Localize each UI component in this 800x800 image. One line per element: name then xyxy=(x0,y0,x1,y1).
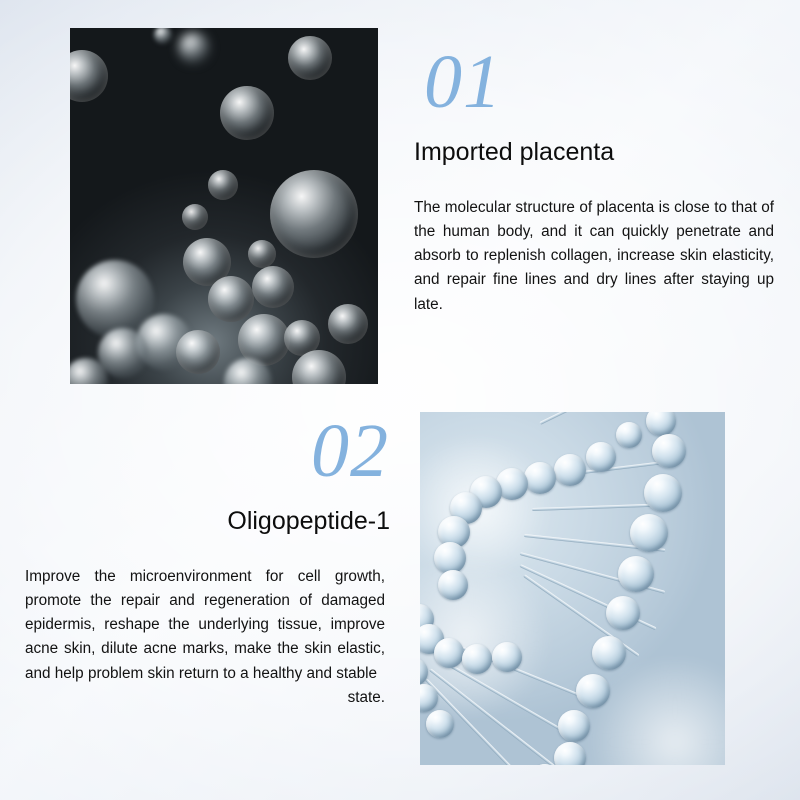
microsphere xyxy=(208,170,238,200)
helix-bead xyxy=(434,638,464,668)
helix-bead xyxy=(462,644,492,674)
microsphere xyxy=(328,304,368,344)
helix-bead xyxy=(618,556,654,592)
helix-bead xyxy=(438,570,468,600)
section-body-01: The molecular structure of placenta is c… xyxy=(414,196,774,317)
helix-bead xyxy=(524,462,556,494)
microsphere xyxy=(288,36,332,80)
section-body-02-last-line: state. xyxy=(25,686,385,710)
section-heading-01: Imported placenta xyxy=(414,139,614,167)
section-heading-02: Oligopeptide-1 xyxy=(227,508,390,536)
helix-bead xyxy=(576,674,610,708)
microsphere xyxy=(248,240,276,268)
helix-bead xyxy=(606,596,640,630)
microsphere xyxy=(178,32,210,64)
dna-helix-photo xyxy=(420,412,725,765)
microsphere xyxy=(208,276,254,322)
section-number-01: 01 xyxy=(424,44,502,120)
helix-bead xyxy=(558,710,590,742)
microsphere xyxy=(252,266,294,308)
helix-bead xyxy=(554,454,586,486)
helix-bead xyxy=(492,642,522,672)
placenta-microspheres-photo xyxy=(70,28,378,384)
helix-bead xyxy=(592,636,626,670)
helix-bead xyxy=(652,434,686,468)
product-ingredient-infographic: 01 Imported placenta The molecular struc… xyxy=(0,0,800,800)
helix-bead xyxy=(644,474,682,512)
helix-bead xyxy=(426,710,454,738)
helix-bead xyxy=(630,514,668,552)
microsphere xyxy=(270,170,358,258)
helix-bead xyxy=(616,422,642,448)
section-number-02: 02 xyxy=(311,413,389,489)
section-body-02-text: Improve the microenvironment for cell gr… xyxy=(25,568,385,682)
helix-bead xyxy=(586,442,616,472)
microsphere xyxy=(220,86,274,140)
section-body-02: Improve the microenvironment for cell gr… xyxy=(25,565,385,710)
microsphere xyxy=(176,330,220,374)
microsphere xyxy=(182,204,208,230)
